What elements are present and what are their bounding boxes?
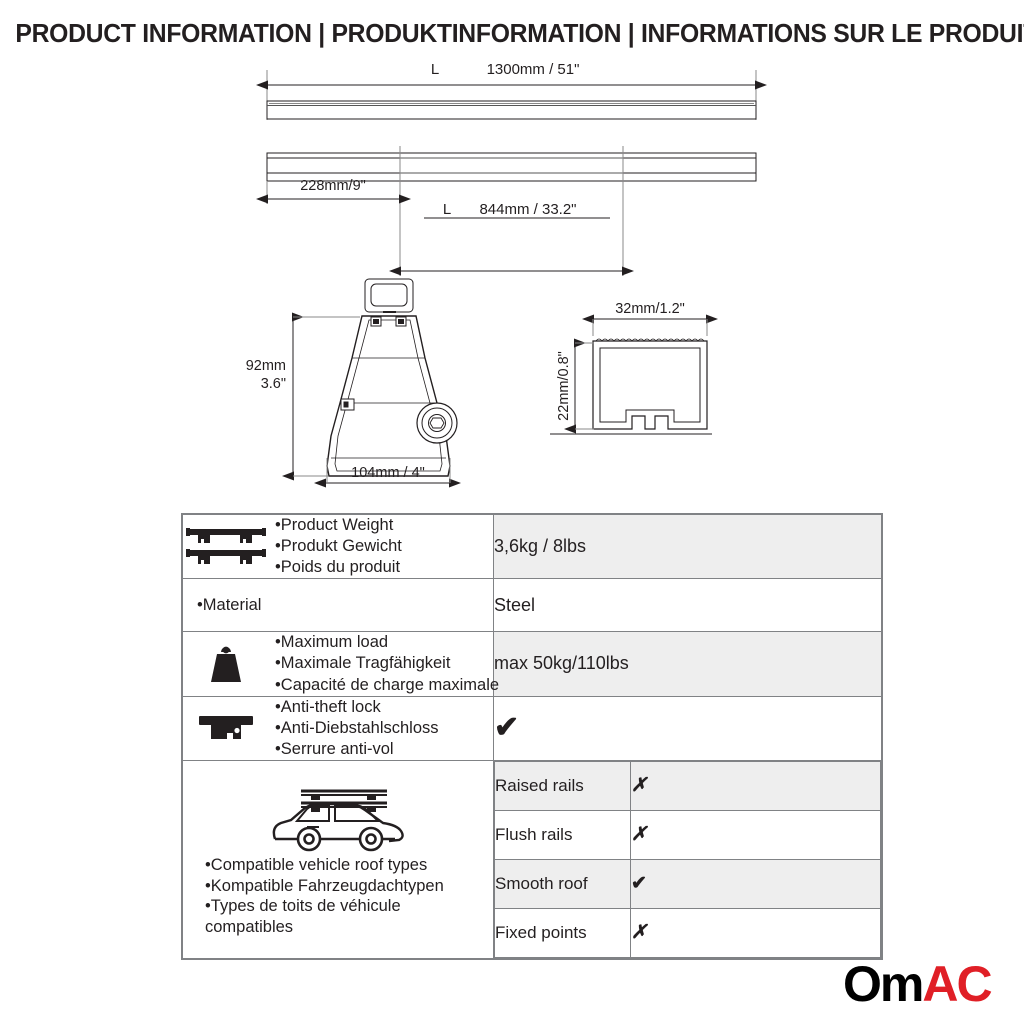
roof-type-row: Raised rails ✗ [495, 761, 881, 810]
roof-label-cell: •Compatible vehicle roof types •Kompatib… [183, 760, 494, 958]
bullet-line: •Kompatible Fahrzeugdachtypen [205, 876, 493, 897]
logo-text-black: Om [843, 956, 922, 1012]
spec-bullets: •Maximum load •Maximale Tragfähigkeit •C… [275, 632, 499, 695]
foot-offset-value: 228mm/9" [300, 178, 366, 194]
roof-type-mark: ✔ [631, 859, 881, 908]
profile-height-value: 22mm/0.8" [556, 351, 572, 421]
bar-length-prefix: L [431, 61, 439, 78]
spec-value-cell: 3,6kg / 8lbs [494, 515, 882, 579]
lock-icon [183, 708, 269, 748]
cross-icon: ✗ [631, 775, 647, 796]
weight-icon [183, 640, 269, 688]
bullet-line: •Poids du produit [275, 557, 402, 578]
bullet-line: •Maximale Tragfähigkeit [275, 653, 499, 674]
roof-type-row: Flush rails ✗ [495, 810, 881, 859]
bullet-line: •Anti-Diebstahlschloss [275, 718, 439, 739]
foot-height-line1: 92mm [246, 358, 286, 374]
table-row: •Product Weight •Produkt Gewicht •Poids … [183, 515, 882, 579]
roof-type-mark: ✗ [631, 810, 881, 859]
spec-value-cell: ✔ [494, 696, 882, 760]
roof-type-row: Fixed points ✗ [495, 908, 881, 957]
bullet-line: •Serrure anti-vol [275, 739, 439, 760]
logo-text-red: AC [922, 956, 990, 1012]
profile-width-value: 32mm/1.2" [615, 301, 685, 317]
spec-value-cell: Steel [494, 579, 882, 632]
bullet-line: •Maximum load [275, 632, 499, 653]
crossbars-icon [183, 525, 269, 569]
table-row: •Anti-theft lock •Anti-Diebstahlschloss … [183, 696, 882, 760]
bar-length-value: 1300mm / 51" [487, 61, 580, 78]
car-with-rack-icon [183, 781, 493, 855]
bullet-line: •Compatible vehicle roof types [205, 855, 493, 876]
spec-label-cell: •Product Weight •Produkt Gewicht •Poids … [183, 515, 494, 579]
bullet-line: •Anti-theft lock [275, 697, 439, 718]
omac-logo: OmAC [843, 958, 1013, 1010]
bullet-line: •Produkt Gewicht [275, 536, 402, 557]
spec-bullets: •Product Weight •Produkt Gewicht •Poids … [275, 515, 402, 578]
check-icon: ✔ [494, 711, 519, 744]
roof-type-name: Raised rails [495, 761, 631, 810]
table-row: •Material Steel [183, 579, 882, 632]
specification-table: •Product Weight •Produkt Gewicht •Poids … [181, 513, 883, 960]
spec-label-cell: •Material [183, 579, 494, 632]
technical-drawings: L 1300mm / 51" 228mm/9" L 844mm / 33.2" … [0, 58, 1024, 503]
bullet-line: •Product Weight [275, 515, 402, 536]
spec-bullets: •Anti-theft lock •Anti-Diebstahlschloss … [275, 697, 439, 760]
spec-label-cell: •Maximum load •Maximale Tragfähigkeit •C… [183, 632, 494, 696]
roof-type-name: Smooth roof [495, 859, 631, 908]
bullet-line: •Capacité de charge maximale [275, 675, 499, 696]
roof-types-table: Raised rails ✗ Flush rails ✗ [494, 761, 881, 958]
spec-label-cell: •Anti-theft lock •Anti-Diebstahlschloss … [183, 696, 494, 760]
span-prefix: L [443, 201, 451, 218]
cross-icon: ✗ [631, 824, 647, 845]
roof-type-row: Smooth roof ✔ [495, 859, 881, 908]
spec-bullets: •Material [183, 595, 261, 616]
roof-type-mark: ✗ [631, 761, 881, 810]
roof-types-cell: Raised rails ✗ Flush rails ✗ [494, 760, 882, 958]
roof-type-name: Fixed points [495, 908, 631, 957]
check-icon: ✔ [631, 873, 647, 894]
foot-height-line2: 3.6" [261, 376, 286, 392]
roof-type-mark: ✗ [631, 908, 881, 957]
cross-icon: ✗ [631, 922, 647, 943]
page-title: PRODUCT INFORMATION | PRODUKTINFORMATION… [15, 20, 1008, 49]
foot-width-value: 104mm / 4" [351, 465, 425, 481]
spec-value-cell: max 50kg/110lbs [494, 632, 882, 696]
bullet-line: •Types de toits de véhicule [205, 896, 493, 917]
roof-bullets: •Compatible vehicle roof types •Kompatib… [183, 855, 493, 938]
span-value: 844mm / 33.2" [479, 201, 576, 218]
table-row: •Maximum load •Maximale Tragfähigkeit •C… [183, 632, 882, 696]
bullet-line: •Material [197, 595, 261, 616]
table-row: •Compatible vehicle roof types •Kompatib… [183, 760, 882, 958]
drawing-svg: L 1300mm / 51" 228mm/9" L 844mm / 33.2" … [0, 58, 1024, 503]
bullet-line: compatibles [205, 917, 493, 938]
roof-type-name: Flush rails [495, 810, 631, 859]
